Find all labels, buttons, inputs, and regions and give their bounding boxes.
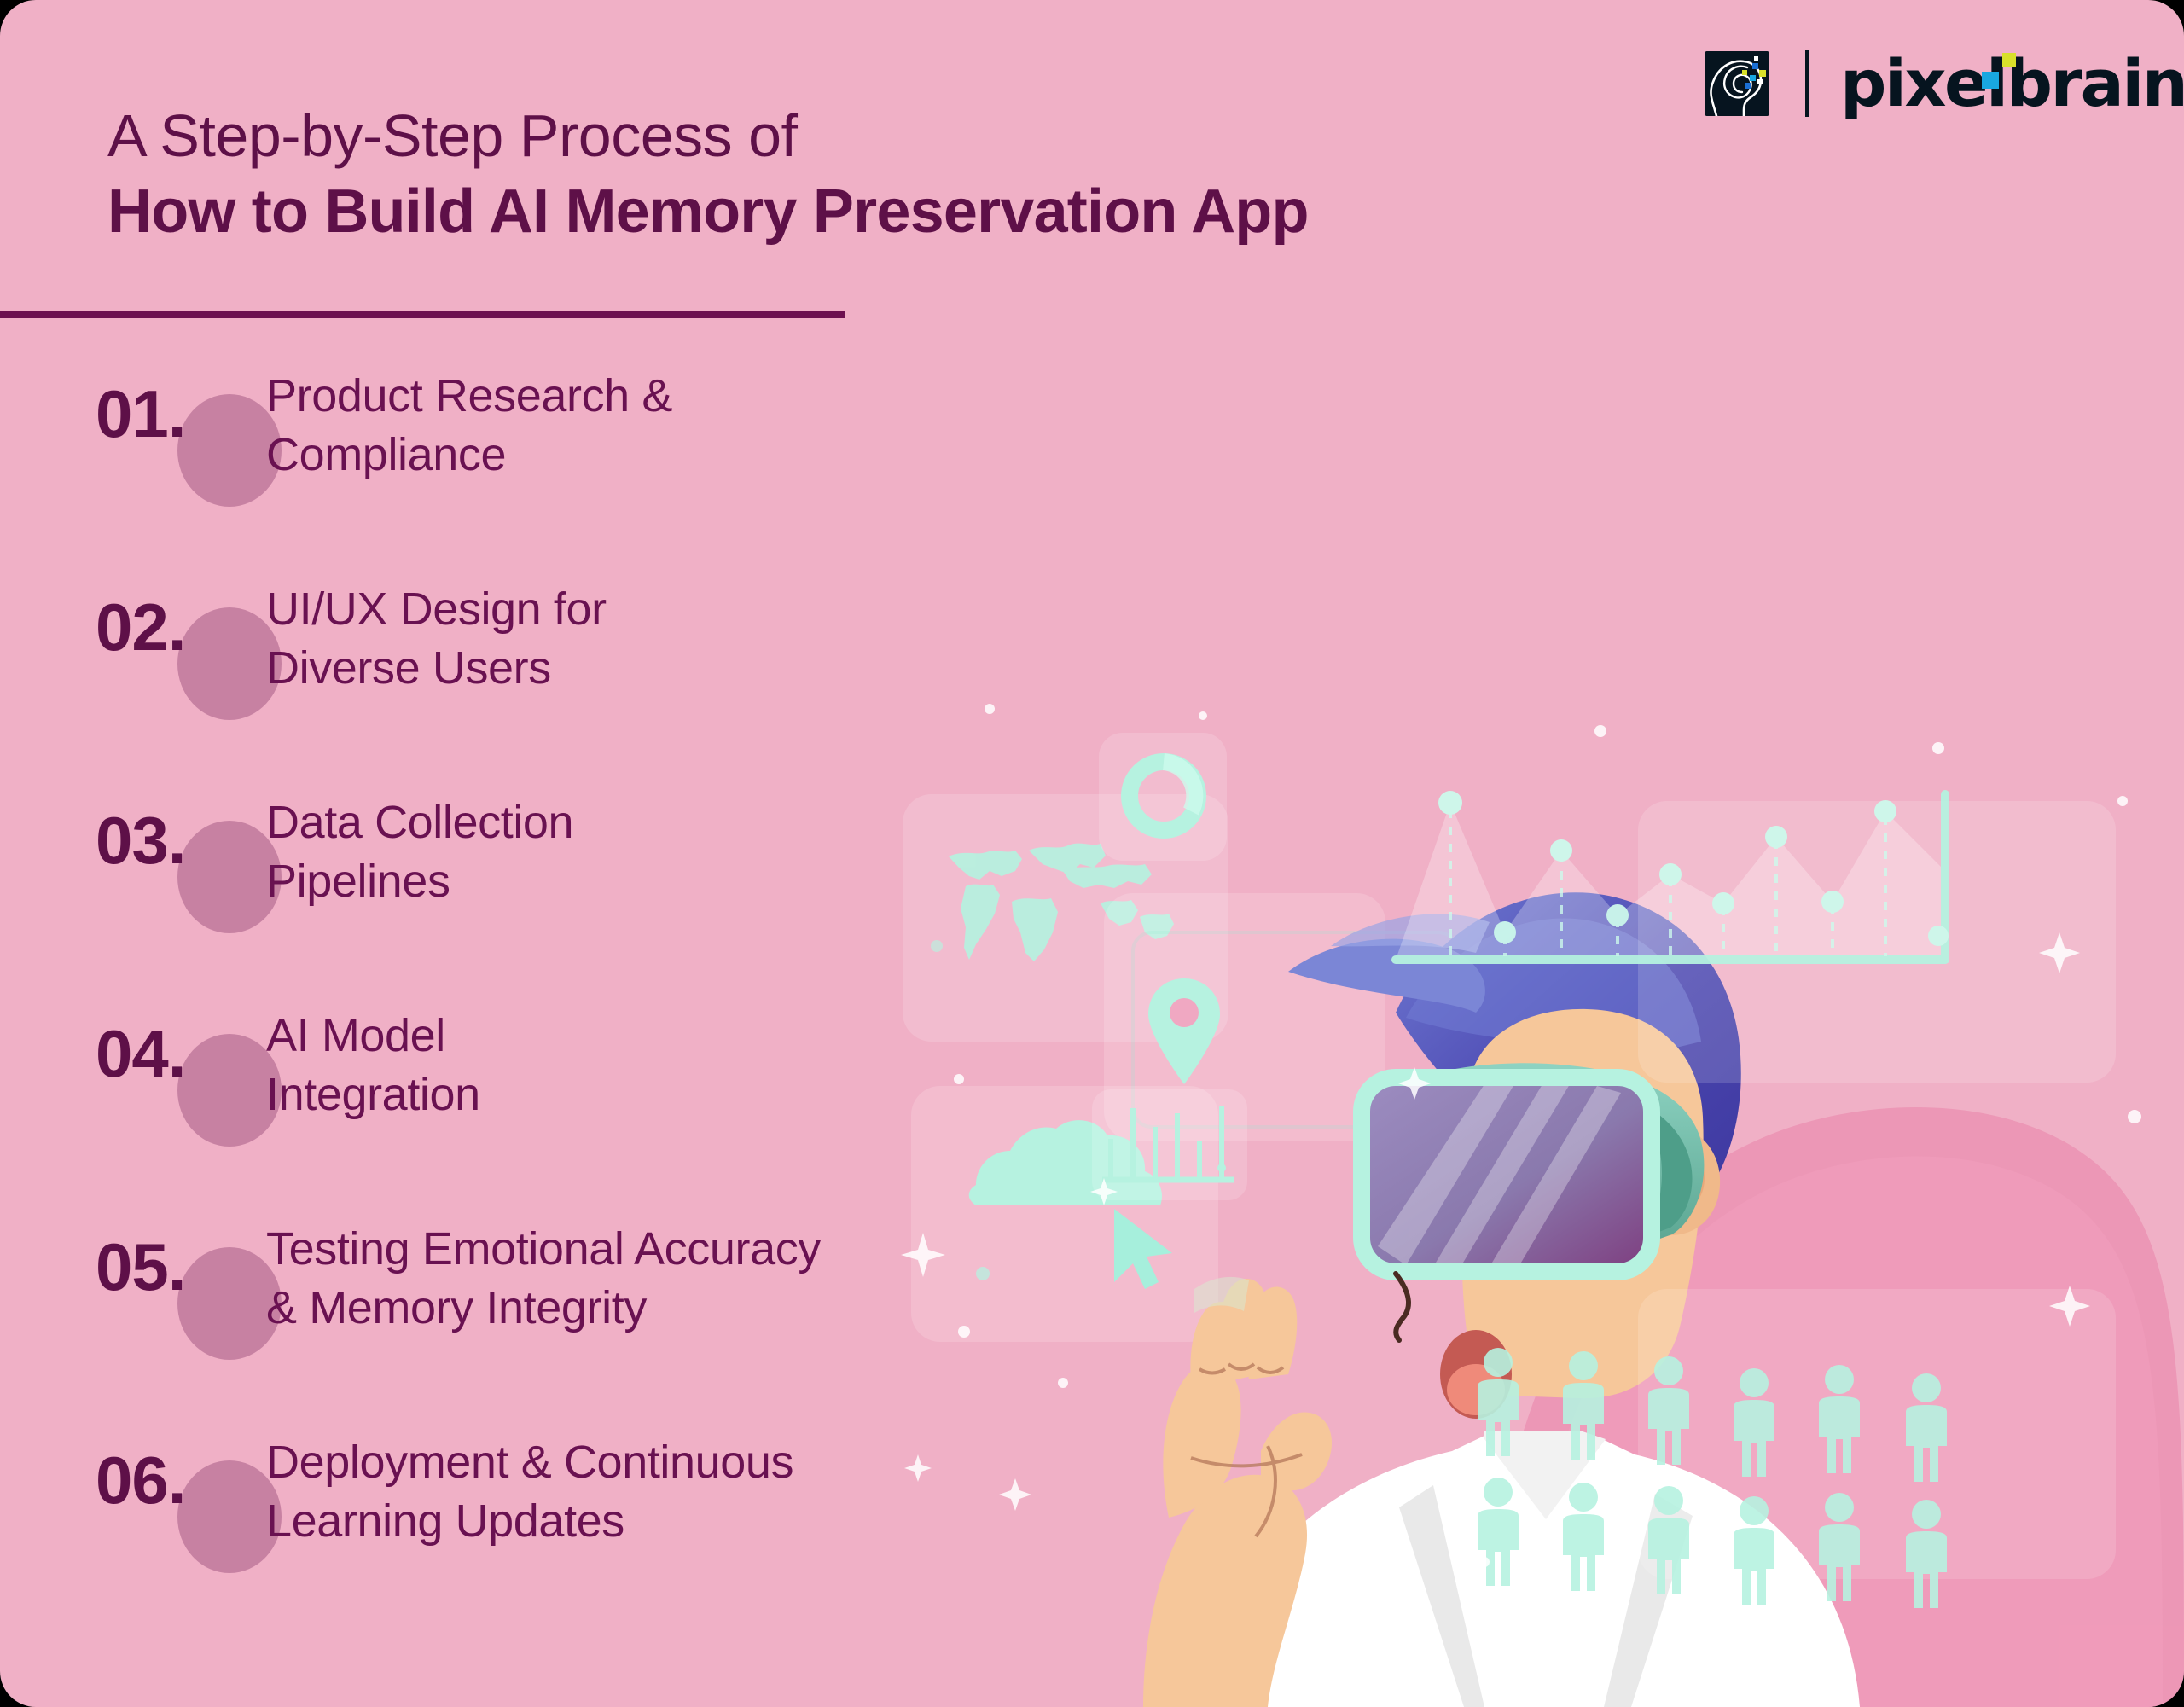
list-item[interactable]: 02. UI/UX Design for Diverse Users — [96, 580, 1136, 793]
list-item[interactable]: 05. Testing Emotional Accuracy & Memory … — [96, 1220, 1136, 1433]
logo-accent-squares — [1977, 53, 2026, 102]
step-number: 03. — [96, 807, 185, 874]
infographic-card: pixelbrainy A Step-by-Step Process of Ho… — [0, 0, 2184, 1707]
list-item[interactable]: 01. Product Research & Compliance — [96, 367, 1136, 580]
step-number: 05. — [96, 1234, 185, 1300]
step-label: Data Collection Pipelines — [266, 793, 1153, 910]
list-item[interactable]: 03. Data Collection Pipelines — [96, 793, 1136, 1007]
step-number: 01. — [96, 380, 185, 447]
holo-panel-people — [1638, 1289, 2116, 1579]
header: A Step-by-Step Process of How to Build A… — [107, 102, 1814, 247]
step-number: 02. — [96, 594, 185, 660]
step-number: 04. — [96, 1020, 185, 1087]
step-label: AI Model Integration — [266, 1007, 1153, 1123]
logo-wordmark: pixelbrainy — [1840, 51, 2184, 116]
page-eyebrow: A Step-by-Step Process of — [107, 102, 1814, 169]
step-number: 06. — [96, 1447, 185, 1513]
page-title: How to Build AI Memory Preservation App — [107, 177, 1814, 247]
step-label: UI/UX Design for Diverse Users — [266, 580, 1153, 697]
step-label: Testing Emotional Accuracy & Memory Inte… — [266, 1220, 1153, 1337]
list-item[interactable]: 04. AI Model Integration — [96, 1007, 1136, 1220]
title-underline — [0, 311, 845, 318]
steps-list: 01. Product Research & Compliance 02. UI… — [96, 367, 1136, 1646]
step-label: Deployment & Continuous Learning Updates — [266, 1433, 1153, 1550]
step-label: Product Research & Compliance — [266, 367, 1153, 484]
list-item[interactable]: 06. Deployment & Continuous Learning Upd… — [96, 1433, 1136, 1646]
